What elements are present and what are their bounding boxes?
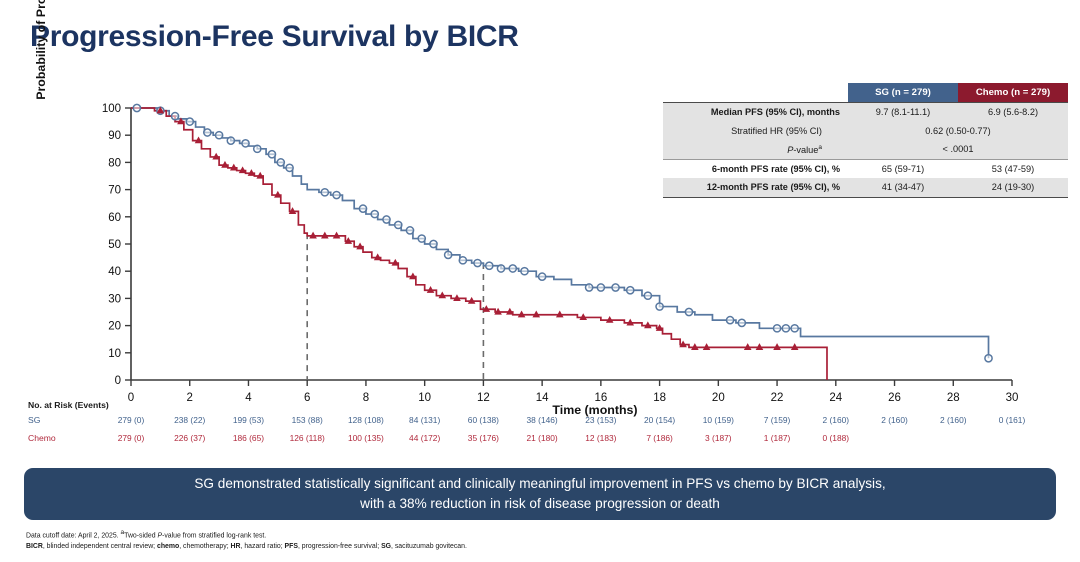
- censor-mark-sg: [738, 319, 745, 326]
- risk-cell: 7 (159): [749, 415, 805, 425]
- footnote-line-1: Data cutoff date: April 2, 2025. aTwo-si…: [26, 528, 726, 542]
- censor-mark-sg: [656, 303, 663, 310]
- risk-cell: 2 (160): [867, 415, 923, 425]
- risk-cell: 226 (37): [162, 433, 218, 443]
- risk-cell: 279 (0): [103, 433, 159, 443]
- risk-cell: 20 (154): [632, 415, 688, 425]
- censor-mark-sg: [277, 159, 284, 166]
- abbreviations-text: BICR, blinded independent central review…: [26, 543, 467, 550]
- risk-cell: 12 (183): [573, 433, 629, 443]
- censor-mark-sg: [242, 140, 249, 147]
- censor-mark-sg: [204, 129, 211, 136]
- censor-mark-sg: [333, 191, 340, 198]
- censor-mark-sg: [171, 113, 178, 120]
- censor-mark-sg: [459, 257, 466, 264]
- y-tick-label: 70: [108, 185, 121, 197]
- risk-cell: 10 (159): [690, 415, 746, 425]
- censor-mark-sg: [383, 216, 390, 223]
- censor-mark-sg: [186, 118, 193, 125]
- risk-cell: 0 (161): [984, 415, 1040, 425]
- y-axis-label: Probability of Progression-Free Survival…: [34, 0, 48, 110]
- risk-cell: 128 (108): [338, 415, 394, 425]
- censor-mark-sg: [539, 273, 546, 280]
- risk-row-chemo: Chemo279 (0)226 (37)186 (65)126 (118)100…: [28, 433, 1068, 451]
- censor-mark-sg: [509, 265, 516, 272]
- number-at-risk-table: No. at Risk (Events) SG279 (0)238 (22)19…: [28, 400, 1068, 451]
- censor-mark-sg: [627, 287, 634, 294]
- y-tick-label: 20: [108, 321, 121, 333]
- slide-root: Progression-Free Survival by BICR SG (n …: [0, 0, 1080, 562]
- km-curve-chemo: [131, 108, 827, 380]
- censor-mark-sg: [612, 284, 619, 291]
- risk-cell: 3 (187): [690, 433, 746, 443]
- censor-mark-sg: [445, 251, 452, 258]
- censor-mark-sg: [791, 325, 798, 332]
- risk-cell: 1 (187): [749, 433, 805, 443]
- censor-mark-sg: [286, 164, 293, 171]
- y-tick-label: 60: [108, 212, 121, 224]
- censor-mark-sg: [268, 151, 275, 158]
- risk-table-title: No. at Risk (Events): [28, 400, 1068, 410]
- censor-mark-sg: [597, 284, 604, 291]
- censor-mark-sg: [685, 308, 692, 315]
- censor-mark-sg: [782, 325, 789, 332]
- censor-mark-sg: [486, 262, 493, 269]
- risk-cell: 2 (160): [925, 415, 981, 425]
- risk-cell: 186 (65): [220, 433, 276, 443]
- risk-cell: 7 (186): [632, 433, 688, 443]
- censor-mark-sg: [227, 137, 234, 144]
- censor-mark-sg: [497, 265, 504, 272]
- censor-mark-sg: [216, 132, 223, 139]
- y-tick-label: 100: [102, 103, 121, 115]
- censor-mark-sg: [321, 189, 328, 196]
- censor-mark-sg: [418, 235, 425, 242]
- censor-mark-sg: [644, 292, 651, 299]
- risk-cell: 84 (131): [397, 415, 453, 425]
- risk-row-sg: SG279 (0)238 (22)199 (53)153 (88)128 (10…: [28, 415, 1068, 433]
- y-tick-label: 80: [108, 157, 121, 169]
- risk-table-rows: SG279 (0)238 (22)199 (53)153 (88)128 (10…: [28, 415, 1068, 451]
- risk-cell: 199 (53): [220, 415, 276, 425]
- censor-mark-sg: [406, 227, 413, 234]
- footnotes: Data cutoff date: April 2, 2025. aTwo-si…: [26, 528, 726, 552]
- risk-cell: 100 (135): [338, 433, 394, 443]
- censor-mark-sg: [430, 240, 437, 247]
- y-tick-label: 30: [108, 293, 121, 305]
- footnote-test-a: Two-sided: [124, 532, 157, 539]
- km-chart: 0102030405060708090100024681012141618202…: [0, 90, 1080, 410]
- censor-mark-sg: [726, 317, 733, 324]
- risk-cell: 153 (88): [279, 415, 335, 425]
- risk-row-label: SG: [28, 415, 40, 425]
- banner-text: SG demonstrated statistically significan…: [194, 474, 885, 513]
- risk-cell: 23 (153): [573, 415, 629, 425]
- censor-mark-sg: [395, 221, 402, 228]
- km-plot-svg: 0102030405060708090100024681012141618202…: [0, 90, 1080, 410]
- risk-cell: 0 (188): [808, 433, 864, 443]
- censor-mark-sg: [254, 145, 261, 152]
- page-title: Progression-Free Survival by BICR: [30, 20, 519, 54]
- footnote-test-b: -value from stratified log-rank test.: [162, 532, 266, 539]
- footnote-cutoff: Data cutoff date: April 2, 2025.: [26, 532, 121, 539]
- censor-mark-sg: [133, 104, 140, 111]
- risk-cell: 38 (146): [514, 415, 570, 425]
- banner-line-2: with a 38% reduction in risk of disease …: [360, 496, 720, 511]
- censor-mark-sg: [521, 268, 528, 275]
- conclusion-banner: SG demonstrated statistically significan…: [24, 468, 1056, 520]
- risk-cell: 35 (176): [455, 433, 511, 443]
- risk-cell: 2 (160): [808, 415, 864, 425]
- censor-mark-sg: [371, 210, 378, 217]
- censor-mark-sg: [586, 284, 593, 291]
- y-tick-label: 0: [115, 375, 121, 387]
- risk-cell: 44 (172): [397, 433, 453, 443]
- y-tick-label: 40: [108, 266, 121, 278]
- risk-cell: 238 (22): [162, 415, 218, 425]
- y-tick-label: 10: [108, 348, 121, 360]
- y-tick-label: 50: [108, 239, 121, 251]
- risk-row-label: Chemo: [28, 433, 56, 443]
- censor-mark-sg: [359, 205, 366, 212]
- footnote-line-2: BICR, blinded independent central review…: [26, 542, 726, 552]
- banner-line-1: SG demonstrated statistically significan…: [194, 476, 885, 491]
- risk-cell: 21 (180): [514, 433, 570, 443]
- risk-cell: 126 (118): [279, 433, 335, 443]
- censor-mark-sg: [474, 259, 481, 266]
- risk-cell: 60 (138): [455, 415, 511, 425]
- risk-cell: 279 (0): [103, 415, 159, 425]
- censor-mark-sg: [985, 355, 992, 362]
- censor-mark-sg: [773, 325, 780, 332]
- y-tick-label: 90: [108, 130, 121, 142]
